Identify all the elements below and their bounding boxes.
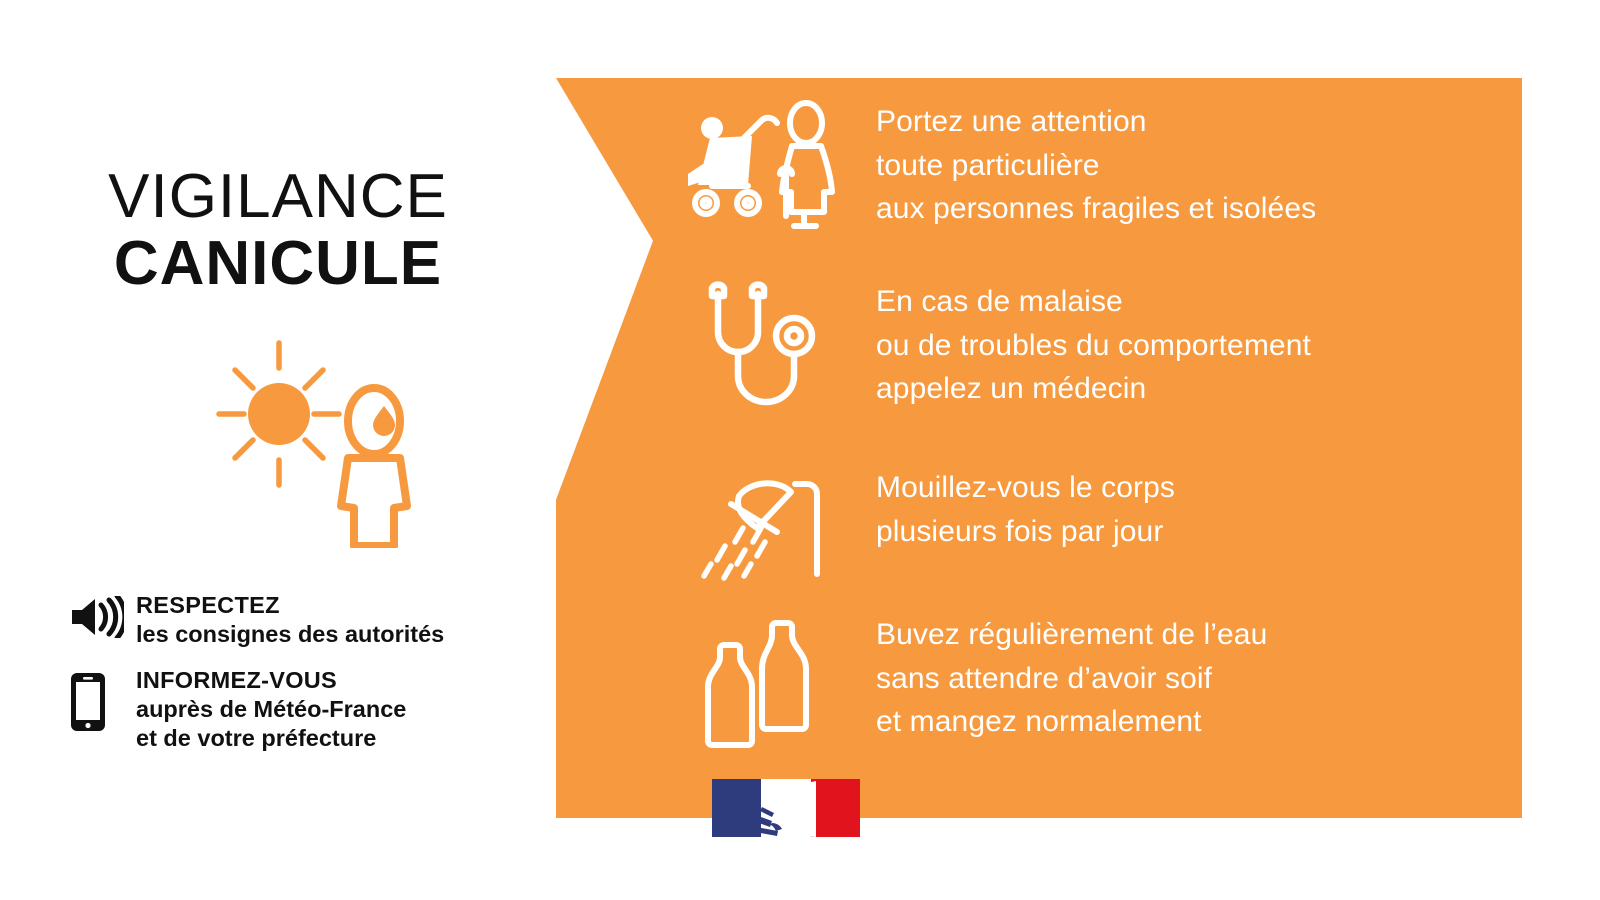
panel-row-text-2: En cas de malaise ou de troubles du comp… [876, 280, 1311, 411]
advice-headline-informez: INFORMEZ-VOUS [136, 667, 538, 695]
title-vigilance: VIGILANCE [0, 165, 556, 229]
row1-line2: toute particulière [876, 144, 1316, 188]
republique-francaise-marianne-logo [712, 779, 860, 837]
advice-detail-respectez: les consignes des autorités [136, 620, 538, 649]
advice-icon-wrap [68, 592, 136, 638]
panel-row-text: Portez une attention toute particulière … [876, 100, 1316, 231]
row3-line1: Mouillez-vous le corps [876, 466, 1175, 510]
row4-line1: Buvez régulièrement de l’eau [876, 613, 1267, 657]
panel-row-icon-wrap-2 [646, 280, 876, 420]
advice-block: RESPECTEZ les consignes des autorités IN… [68, 592, 538, 768]
panel-row-icon-wrap [646, 100, 876, 240]
advice-text-wrap-2: INFORMEZ-VOUS auprès de Météo-France et … [136, 667, 538, 753]
mobile-phone-icon [68, 671, 108, 733]
panel-row-boire: Buvez régulièrement de l’eau sans attend… [646, 613, 1267, 753]
advice-row-informez-vous: INFORMEZ-VOUS auprès de Météo-France et … [68, 667, 538, 753]
stroller-and-elderly-woman-icon [676, 100, 846, 240]
water-bottles-icon [696, 613, 826, 753]
advice-detail-informez-2: et de votre préfecture [136, 724, 538, 753]
panel-row-fragiles: Portez une attention toute particulière … [646, 100, 1316, 240]
loudspeaker-icon [68, 596, 124, 638]
row4-line3: et mangez normalement [876, 700, 1267, 744]
sun-and-sweating-person-icon [197, 338, 427, 548]
orange-advice-panel: Portez une attention toute particulière … [556, 78, 1522, 818]
panel-row-icon-wrap-4 [646, 613, 876, 753]
left-column: VIGILANCE CANICULE [0, 0, 556, 900]
panel-row-text-4: Buvez régulièrement de l’eau sans attend… [876, 613, 1267, 744]
row2-line1: En cas de malaise [876, 280, 1311, 324]
stethoscope-icon [696, 280, 826, 420]
panel-row-text-3: Mouillez-vous le corps plusieurs fois pa… [876, 466, 1175, 553]
advice-detail-informez-1: auprès de Météo-France [136, 695, 538, 724]
row2-line2: ou de troubles du comportement [876, 324, 1311, 368]
panel-rows: Portez une attention toute particulière … [556, 78, 1522, 818]
page-title: VIGILANCE CANICULE [0, 165, 556, 300]
shower-icon [691, 466, 831, 586]
title-canicule: CANICULE [0, 229, 556, 300]
advice-icon-wrap-2 [68, 667, 136, 733]
poster-canvas: VIGILANCE CANICULE [0, 0, 1600, 900]
row4-line2: sans attendre d’avoir soif [876, 657, 1267, 701]
panel-row-icon-wrap-3 [646, 466, 876, 586]
row1-line3: aux personnes fragiles et isolées [876, 187, 1316, 231]
panel-row-malaise: En cas de malaise ou de troubles du comp… [646, 280, 1311, 420]
advice-row-respectez: RESPECTEZ les consignes des autorités [68, 592, 538, 649]
advice-headline-respectez: RESPECTEZ [136, 592, 538, 620]
advice-text-wrap: RESPECTEZ les consignes des autorités [136, 592, 538, 649]
row3-line2: plusieurs fois par jour [876, 510, 1175, 554]
row2-line3: appelez un médecin [876, 367, 1311, 411]
row1-line1: Portez une attention [876, 100, 1316, 144]
panel-row-mouiller: Mouillez-vous le corps plusieurs fois pa… [646, 466, 1175, 586]
